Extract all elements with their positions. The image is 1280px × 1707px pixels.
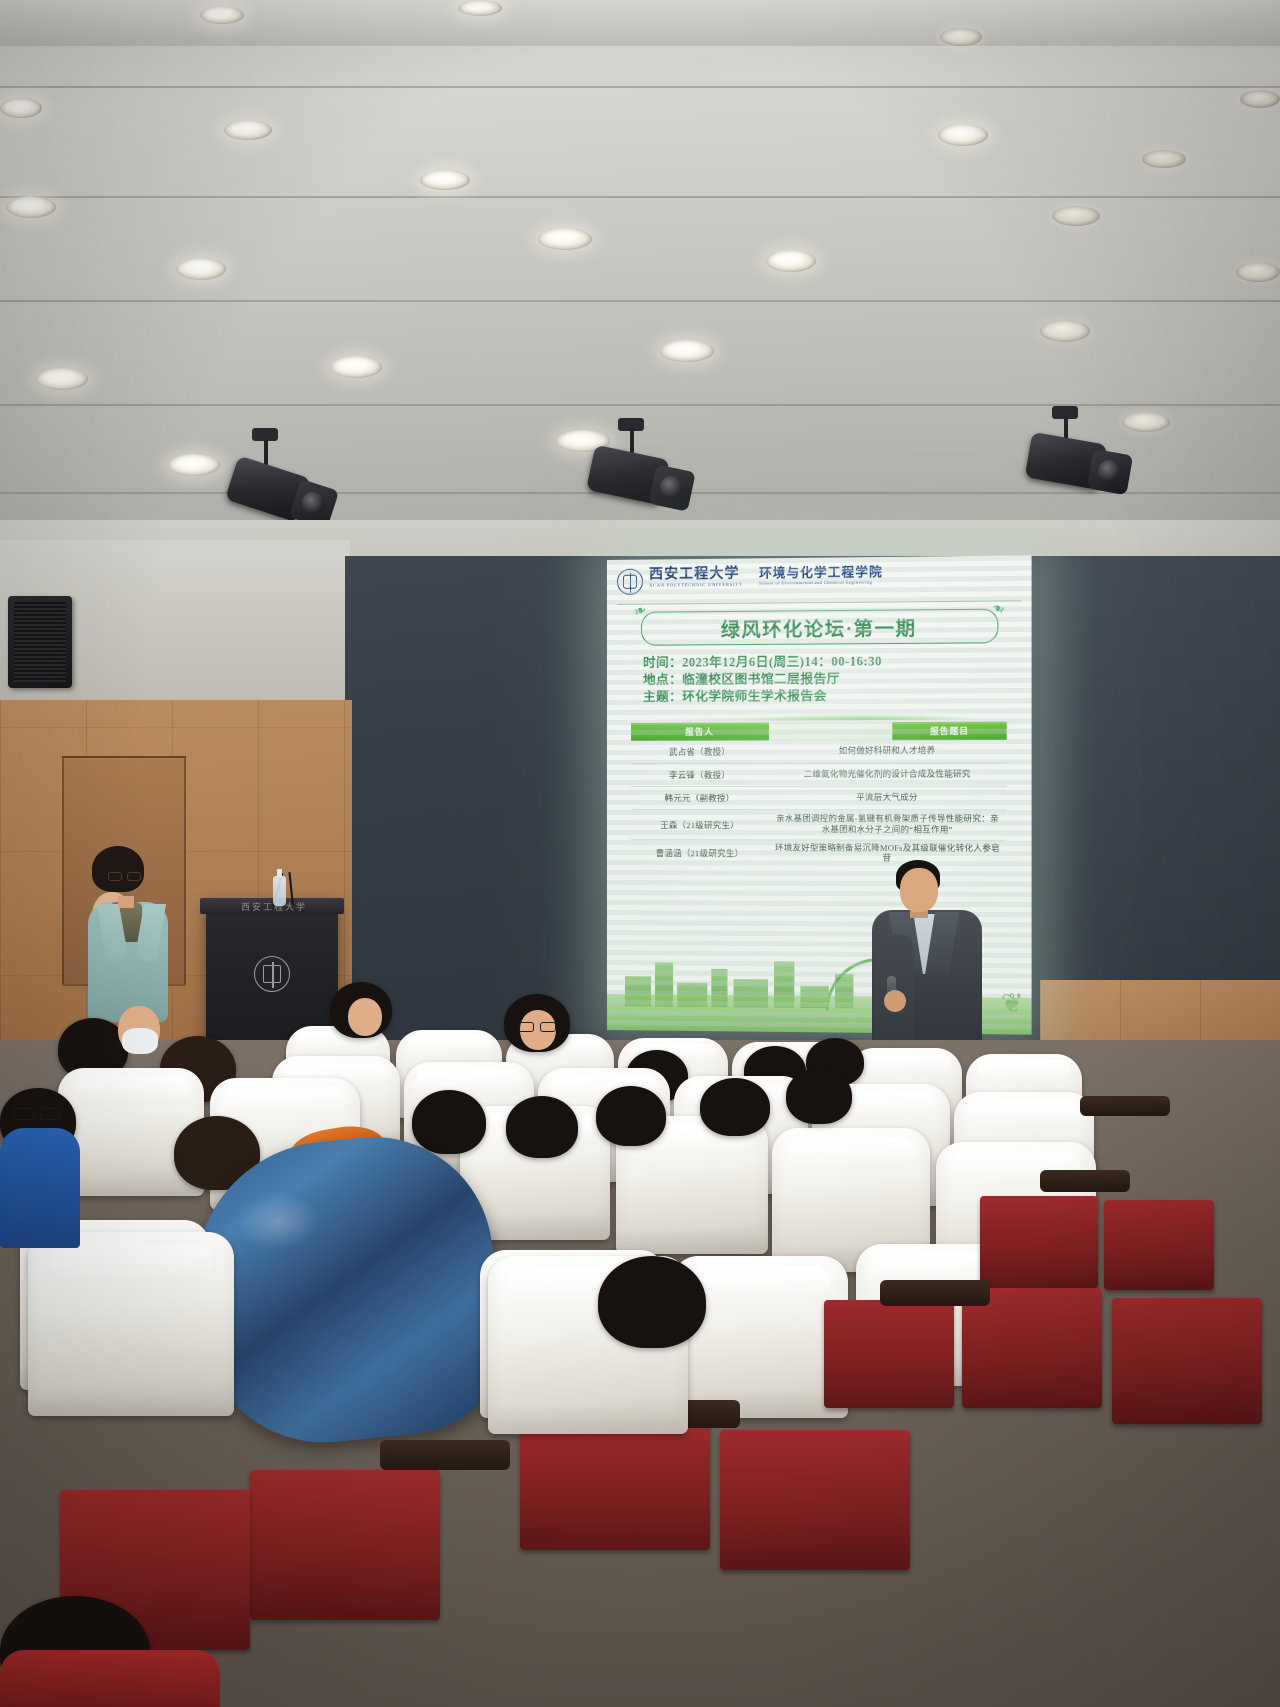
seat-base	[980, 1196, 1098, 1288]
ceiling-downlight	[538, 228, 592, 250]
audience-body	[0, 1650, 220, 1707]
ceiling-downlight	[938, 124, 988, 146]
stage-light-lens	[302, 492, 324, 514]
audience-face	[348, 998, 382, 1036]
slide-info-place: 地点：临潼校区图书馆二层报告厅	[643, 670, 1021, 689]
audience-head	[596, 1086, 666, 1146]
university-seal-icon	[254, 956, 290, 992]
speaker-name: 武占省（教授）	[631, 746, 768, 758]
university-seal-icon	[617, 569, 643, 595]
table-row: 王森（21级研究生） 亲水基团调控的金属-氢键有机骨架质子传导性能研究：亲水基团…	[631, 810, 1007, 841]
audience-head	[412, 1090, 486, 1154]
speaker-name: 王森（21级研究生）	[631, 819, 768, 831]
university-name-en: XI'AN POLYTECHNIC UNIVERSITY	[649, 582, 743, 588]
speaker-topic: 二维氮化物光催化剂的设计合成及性能研究	[768, 769, 1006, 780]
ceiling-downlight	[200, 6, 244, 24]
seat-base	[720, 1430, 910, 1570]
ceiling-downlight	[1142, 150, 1186, 168]
ceiling-downlight	[224, 120, 272, 140]
program-table: 报告人 报告题目 武占省（教授） 如何做好科研和人才培养 李云锋（教授） 二维氮…	[631, 722, 1007, 868]
ceiling-downlight	[1236, 262, 1280, 282]
audience-body	[0, 1128, 80, 1248]
school-name-cn: 环境与化学工程学院	[759, 565, 883, 580]
ceiling-downlight	[1052, 206, 1100, 226]
ceiling-downlight	[660, 340, 714, 362]
ceiling-downlight	[766, 250, 816, 272]
ceiling-downlight	[168, 454, 220, 476]
university-name-cn: 西安工程大学	[649, 567, 743, 583]
ceiling-downlight	[36, 368, 88, 390]
column-header-speaker: 报告人	[685, 726, 714, 738]
face-mask	[122, 1028, 158, 1054]
table-row: 武占省（教授） 如何做好科研和人才培养	[631, 740, 1007, 764]
column-header-topic: 报告题目	[930, 725, 969, 737]
speaker-name: 李云锋（教授）	[631, 769, 768, 781]
stage-light-lens	[1098, 460, 1120, 482]
seat-base	[1112, 1298, 1262, 1424]
seat-armrest	[880, 1280, 990, 1306]
ceiling-downlight	[1040, 320, 1090, 342]
audience-head	[598, 1256, 706, 1348]
decorative-swoosh	[629, 709, 1009, 720]
slide-info-theme: 主题：环化学院师生学术报告会	[643, 687, 1021, 706]
wall-speaker	[8, 596, 72, 688]
audience-head	[786, 1068, 852, 1124]
ceiling-downlight	[420, 170, 470, 190]
seat-base	[520, 1420, 710, 1550]
seat-base	[250, 1470, 440, 1620]
ceiling-downlight	[0, 98, 42, 118]
presenter-left	[92, 846, 164, 1026]
seat-armrest	[380, 1440, 510, 1470]
presenter-right	[878, 860, 998, 1070]
audience-head	[506, 1096, 578, 1158]
slide-info-block: 时间：2023年12月6日(周三)14：00-16:30 地点：临潼校区图书馆二…	[643, 652, 1021, 706]
table-row: 韩元元（副教授） 平流层大气成分	[631, 787, 1007, 810]
speaker-topic: 如何做好科研和人才培养	[768, 746, 1006, 757]
ceiling-downlight	[1122, 412, 1170, 432]
ceiling-downlight	[940, 28, 982, 46]
ceiling-downlight	[6, 196, 56, 218]
slide-title: 绿风环化论坛·第一期	[721, 613, 917, 642]
lecture-hall-photo: 西安工程大学 XI'AN POLYTECHNIC UNIVERSITY 环境与化…	[0, 0, 1280, 1707]
glasses-icon	[518, 1022, 558, 1033]
ceiling-downlight	[330, 356, 382, 378]
school-name-en: School of Environmental and Chemical Eng…	[759, 579, 883, 585]
speaker-topic: 平流层大气成分	[768, 793, 1006, 804]
glasses-icon	[14, 1108, 62, 1121]
stage-light-lens	[660, 476, 682, 498]
seat-base	[962, 1288, 1102, 1408]
slide-title-banner: ❧ ❧ 绿风环化论坛·第一期	[641, 609, 998, 646]
leaf-icon-right: ❧	[990, 599, 1008, 618]
seat	[28, 1232, 234, 1416]
speaker-topic: 亲水基团调控的金属-氢键有机骨架质子传导性能研究：亲水基团和水分子之间的“相互作…	[768, 814, 1006, 836]
ceiling-downlight	[458, 0, 502, 16]
seat-base	[1104, 1200, 1214, 1290]
speaker-name: 韩元元（副教授）	[631, 792, 768, 804]
slide-info-time: 时间：2023年12月6日(周三)14：00-16:30	[643, 652, 1021, 671]
table-row: 李云锋（教授） 二维氮化物光催化剂的设计合成及性能研究	[631, 763, 1007, 787]
seat-base	[824, 1300, 954, 1408]
glasses-icon	[108, 872, 144, 882]
audience-head	[700, 1078, 770, 1136]
water-bottle	[273, 876, 286, 906]
leaf-icon-left: ❧	[632, 602, 649, 621]
slide-header: 西安工程大学 XI'AN POLYTECHNIC UNIVERSITY 环境与化…	[617, 564, 1021, 602]
ceiling-downlight	[176, 258, 226, 280]
seat-armrest	[1040, 1170, 1130, 1192]
table-header-row: 报告人 报告题目	[631, 722, 1007, 741]
speaker-name: 曹涵涵（21级研究生）	[631, 847, 768, 859]
seat-armrest	[1080, 1096, 1170, 1116]
ceiling-downlight	[1240, 90, 1280, 108]
